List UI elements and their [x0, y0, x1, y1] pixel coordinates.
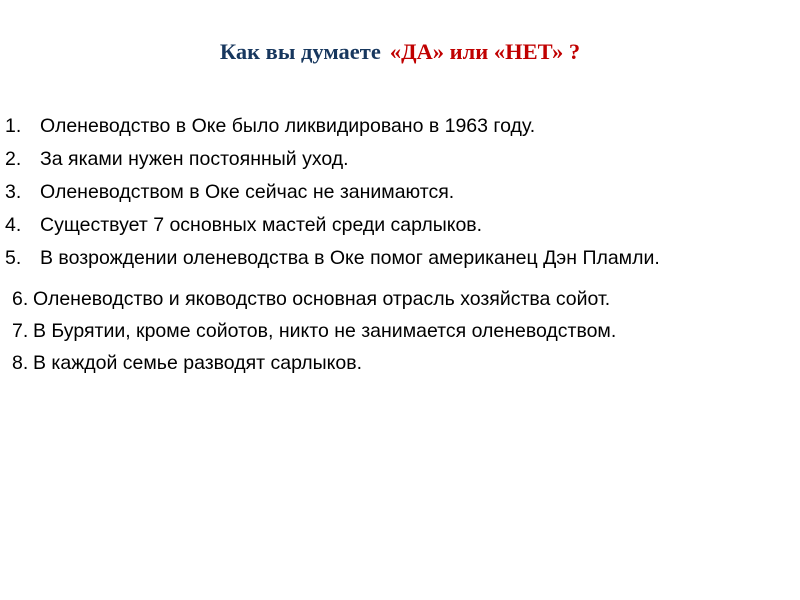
list-item-marker: 1. [5, 113, 35, 139]
list-item-text: В Бурятии, кроме сойотов, никто не заним… [33, 318, 693, 344]
slide-title: Как вы думаете«ДА» или «НЕТ» ? [0, 38, 800, 66]
list-group-spacer [0, 278, 800, 286]
list-item: 3. Оленеводством в Оке сейчас не занимаю… [0, 179, 680, 205]
list-item: 4. Существует 7 основных мастей среди са… [0, 212, 680, 238]
list-item-text: В возрождении оленеводства в Оке помог а… [40, 245, 680, 271]
list-item-text: Оленеводство и яководство основная отрас… [33, 286, 693, 312]
list-item: 6. Оленеводство и яководство основная от… [0, 286, 693, 312]
list-item: 1. Оленеводство в Оке было ликвидировано… [0, 113, 680, 139]
list-item: 5. В возрождении оленеводства в Оке помо… [0, 245, 680, 271]
list-item-marker: 3. [5, 179, 35, 205]
list-item-text: Существует 7 основных мастей среди сарлы… [40, 212, 680, 238]
list-item-marker: 7. [12, 318, 34, 344]
list-item: 7. В Бурятии, кроме сойотов, никто не за… [0, 318, 693, 344]
title-text-blue: Как вы думаете [220, 39, 381, 64]
list-item: 2. За яками нужен постоянный уход. [0, 146, 680, 172]
list-item: 8. В каждой семье разводят сарлыков. [0, 350, 693, 376]
list-item-marker: 4. [5, 212, 35, 238]
list-item-marker: 6. [12, 286, 34, 312]
title-text-red: «ДА» или «НЕТ» ? [390, 39, 580, 64]
list-item-marker: 8. [12, 350, 34, 376]
list-item-text: Оленеводством в Оке сейчас не занимаются… [40, 179, 680, 205]
list-item-marker: 5. [5, 245, 35, 271]
list-item-text: За яками нужен постоянный уход. [40, 146, 680, 172]
question-list: 1. Оленеводство в Оке было ликвидировано… [0, 113, 800, 382]
slide-canvas: Как вы думаете«ДА» или «НЕТ» ? 1. Оленев… [0, 0, 800, 600]
list-item-text: Оленеводство в Оке было ликвидировано в … [40, 113, 680, 139]
list-item-marker: 2. [5, 146, 35, 172]
list-item-text: В каждой семье разводят сарлыков. [33, 350, 693, 376]
